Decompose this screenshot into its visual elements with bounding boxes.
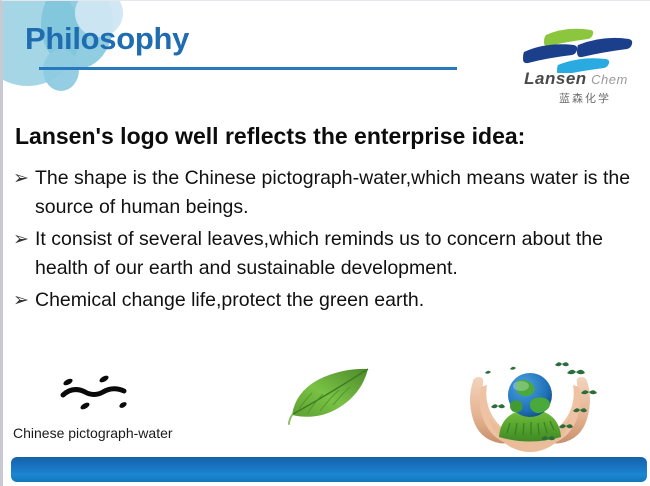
list-item-text: It consist of several leaves,which remin…	[35, 225, 645, 283]
slide-canvas: Philosophy Lansen Chem 蓝森化学 Lansen's log…	[0, 0, 650, 486]
list-item: ➢ Chemical change life,protect the green…	[13, 286, 645, 315]
content-headline: Lansen's logo well reflects the enterpri…	[15, 123, 525, 150]
hands-holding-earth-icon	[455, 353, 605, 459]
logo-name-sub: Chem	[591, 72, 628, 87]
bullet-list: ➢ The shape is the Chinese pictograph-wa…	[13, 164, 645, 318]
company-logo: Lansen Chem 蓝森化学	[508, 21, 644, 105]
lansen-brushstroke-logo-icon	[516, 21, 638, 73]
arrow-bullet-icon: ➢	[13, 225, 35, 254]
page-title: Philosophy	[25, 21, 189, 57]
chinese-pictograph-water-icon	[55, 369, 137, 415]
logo-name-chinese: 蓝森化学	[508, 90, 644, 106]
pictograph-caption: Chinese pictograph-water	[13, 425, 173, 441]
list-item: ➢ It consist of several leaves,which rem…	[13, 225, 645, 283]
title-underline-rule	[39, 67, 457, 70]
footer-bar	[11, 457, 647, 482]
green-leaf-icon	[287, 367, 371, 427]
logo-wordmark: Lansen Chem 蓝森化学	[508, 69, 644, 106]
logo-name-main: Lansen	[524, 69, 587, 88]
arrow-bullet-icon: ➢	[13, 164, 35, 193]
list-item-text: The shape is the Chinese pictograph-wate…	[35, 164, 645, 222]
list-item: ➢ The shape is the Chinese pictograph-wa…	[13, 164, 645, 222]
arrow-bullet-icon: ➢	[13, 286, 35, 315]
list-item-text: Chemical change life,protect the green e…	[35, 286, 645, 315]
